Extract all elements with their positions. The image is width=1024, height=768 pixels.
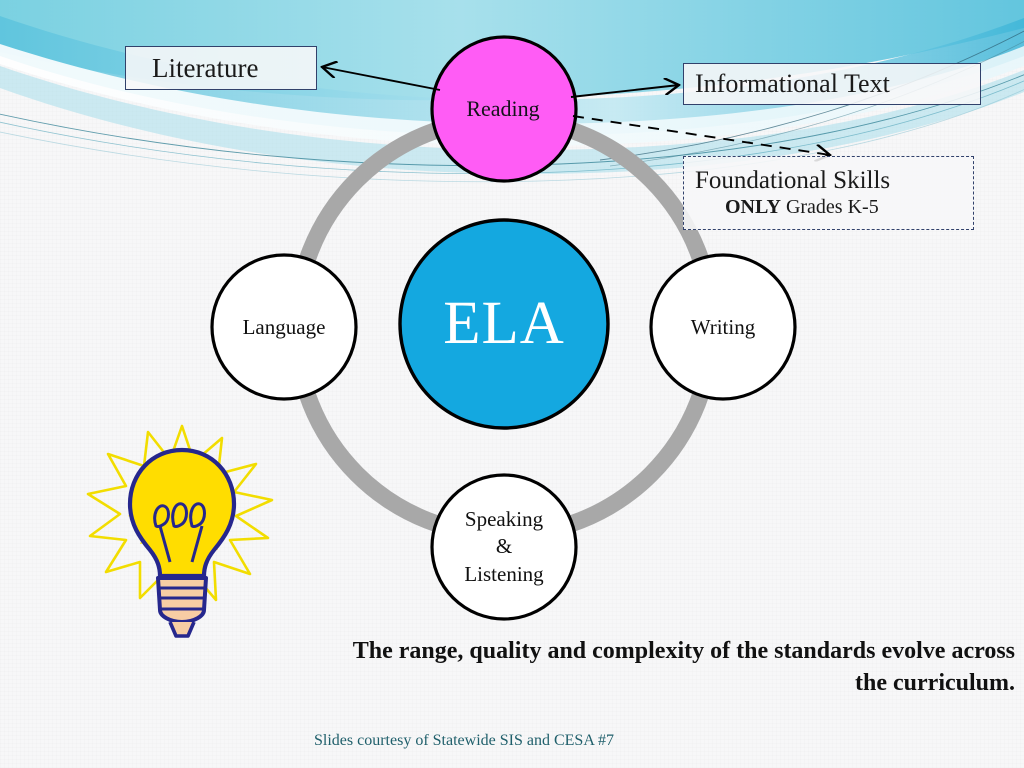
summary-statement-line-1: The range, quality and complexity of the… (353, 638, 876, 664)
slide-canvas: Reading ELA Language Writing Speaking & … (0, 0, 1024, 768)
connector-reading-to-informational-text (571, 85, 679, 97)
callout-informational-text[interactable]: Informational Text (683, 63, 981, 105)
callout-literature-label: Literature (152, 53, 258, 84)
foundational-grades-text: Grades K-5 (781, 196, 879, 218)
callout-foundational-skills-title: Foundational Skills (695, 167, 890, 195)
callout-informational-text-label: Informational Text (695, 69, 890, 99)
node-circle-ela-center[interactable] (400, 220, 608, 428)
foundational-only-emphasis: ONLY (725, 196, 781, 218)
callout-foundational-skills-subtitle: ONLY Grades K-5 (695, 195, 879, 219)
credit-line: Slides courtesy of Statewide SIS and CES… (0, 732, 928, 750)
connector-reading-to-literature (322, 67, 440, 90)
node-circle-language[interactable] (212, 255, 356, 399)
callout-literature[interactable]: Literature (125, 46, 317, 90)
node-circle-speaking-listening[interactable] (432, 475, 576, 619)
summary-statement-line-2: evolve across the curriculum. (855, 638, 1015, 696)
node-circle-reading[interactable] (432, 37, 576, 181)
callout-foundational-skills[interactable]: Foundational Skills ONLY Grades K-5 (683, 156, 974, 230)
lightbulb-icon (82, 420, 282, 640)
summary-statement: The range, quality and complexity of the… (330, 636, 1015, 700)
node-circle-writing[interactable] (651, 255, 795, 399)
